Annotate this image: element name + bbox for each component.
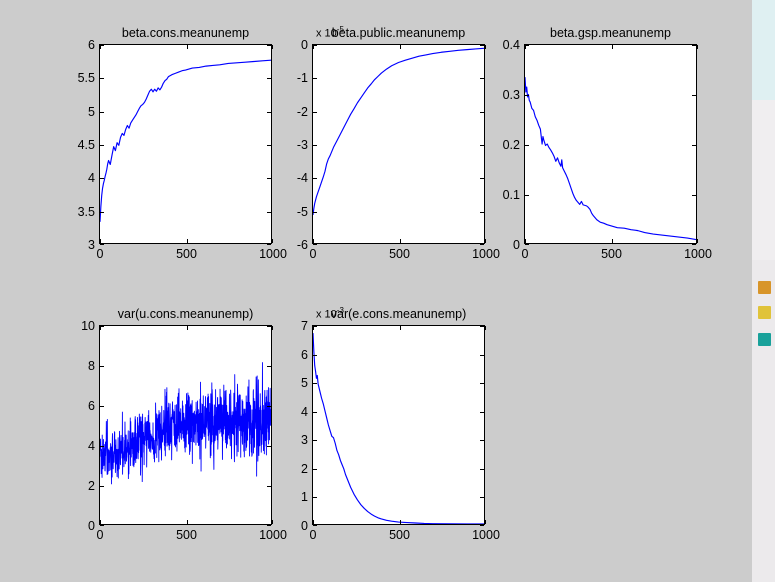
plot-line-beta-public-meanunemp xyxy=(313,45,484,243)
plot-line-beta-gsp-meanunemp xyxy=(525,45,696,243)
y-tick-mark xyxy=(525,145,529,146)
y-tick-mark xyxy=(480,326,484,327)
x-tick-mark xyxy=(400,520,401,524)
x-tick-label: 0 xyxy=(97,528,104,542)
subplot-var-e-cons-meanunemp[interactable]: x 10-3 var(e.cons.meanunemp) 01234567050… xyxy=(312,325,485,525)
x-tick-mark xyxy=(100,520,101,524)
y-tick-mark xyxy=(100,112,104,113)
x-tick-label: 0 xyxy=(97,247,104,261)
x-tick-mark xyxy=(100,326,101,330)
desktop-icon-teal[interactable] xyxy=(758,333,771,346)
y-tick-mark xyxy=(267,406,271,407)
subplot-title: var(e.cons.meanunemp) xyxy=(313,307,484,321)
y-tick-mark xyxy=(525,244,529,245)
y-tick-label: -6 xyxy=(297,238,308,252)
y-tick-mark xyxy=(267,78,271,79)
y-tick-label: -1 xyxy=(297,71,308,85)
x-tick-mark xyxy=(525,45,526,49)
subplot-var-u-cons-meanunemp[interactable]: var(u.cons.meanunemp) 024681005001000 xyxy=(99,325,272,525)
subplot-title: beta.public.meanunemp xyxy=(313,26,484,40)
y-tick-mark xyxy=(480,412,484,413)
y-tick-mark xyxy=(692,195,696,196)
y-tick-label: 3 xyxy=(88,238,95,252)
x-tick-label: 1000 xyxy=(472,247,500,261)
x-tick-mark xyxy=(697,45,698,49)
desktop-strip xyxy=(752,0,775,582)
x-tick-label: 500 xyxy=(389,247,410,261)
desktop-strip-band-top xyxy=(752,0,775,100)
y-tick-mark xyxy=(100,244,104,245)
y-tick-mark xyxy=(267,145,271,146)
y-tick-mark xyxy=(313,383,317,384)
y-tick-mark xyxy=(313,112,317,113)
y-tick-mark xyxy=(100,486,104,487)
x-tick-label: 1000 xyxy=(259,528,287,542)
y-tick-mark xyxy=(313,412,317,413)
desktop-icon-yellow[interactable] xyxy=(758,306,771,319)
y-tick-label: 3 xyxy=(301,433,308,447)
y-tick-mark xyxy=(313,469,317,470)
y-tick-mark xyxy=(313,78,317,79)
x-tick-mark xyxy=(697,239,698,243)
y-tick-mark xyxy=(480,440,484,441)
y-tick-label: 5 xyxy=(88,105,95,119)
y-tick-mark xyxy=(313,178,317,179)
y-tick-mark xyxy=(480,497,484,498)
y-tick-label: 6 xyxy=(88,399,95,413)
y-tick-mark xyxy=(313,244,317,245)
x-tick-label: 0 xyxy=(310,247,317,261)
x-tick-mark xyxy=(400,326,401,330)
y-tick-label: 4 xyxy=(88,439,95,453)
x-tick-mark xyxy=(272,520,273,524)
y-tick-mark xyxy=(480,212,484,213)
y-tick-mark xyxy=(100,212,104,213)
y-tick-mark xyxy=(480,525,484,526)
y-tick-mark xyxy=(100,446,104,447)
y-tick-label: -4 xyxy=(297,171,308,185)
x-tick-mark xyxy=(272,45,273,49)
y-tick-label: -2 xyxy=(297,105,308,119)
y-tick-label: 3.5 xyxy=(78,205,95,219)
x-tick-mark xyxy=(100,239,101,243)
y-tick-label: 7 xyxy=(301,319,308,333)
y-tick-mark xyxy=(480,244,484,245)
y-tick-label: 5 xyxy=(301,376,308,390)
x-tick-label: 1000 xyxy=(259,247,287,261)
y-tick-label: 0.4 xyxy=(503,38,520,52)
x-tick-mark xyxy=(400,239,401,243)
x-tick-label: 1000 xyxy=(472,528,500,542)
y-tick-mark xyxy=(480,383,484,384)
y-tick-mark xyxy=(692,45,696,46)
y-tick-label: 0.1 xyxy=(503,188,520,202)
x-tick-mark xyxy=(525,239,526,243)
x-tick-mark xyxy=(485,520,486,524)
y-tick-label: 6 xyxy=(301,348,308,362)
y-tick-mark xyxy=(313,212,317,213)
subplot-title: var(u.cons.meanunemp) xyxy=(100,307,271,321)
x-tick-label: 500 xyxy=(176,247,197,261)
subplot-beta-gsp-meanunemp[interactable]: beta.gsp.meanunemp 00.10.20.30.405001000 xyxy=(524,44,697,244)
y-tick-mark xyxy=(480,45,484,46)
y-tick-label: 0 xyxy=(301,38,308,52)
y-tick-label: -5 xyxy=(297,205,308,219)
x-tick-label: 500 xyxy=(601,247,622,261)
desktop-icon-orange[interactable] xyxy=(758,281,771,294)
y-tick-mark xyxy=(267,244,271,245)
y-tick-mark xyxy=(480,355,484,356)
y-tick-mark xyxy=(267,525,271,526)
matlab-figure-window[interactable]: beta.cons.meanunemp 33.544.555.560500100… xyxy=(0,0,758,582)
y-tick-label: 2 xyxy=(88,479,95,493)
x-tick-mark xyxy=(272,239,273,243)
y-tick-mark xyxy=(267,486,271,487)
plot-line-var-e-cons-meanunemp xyxy=(313,326,484,524)
y-tick-label: 0 xyxy=(513,238,520,252)
y-tick-mark xyxy=(100,525,104,526)
x-tick-mark xyxy=(313,520,314,524)
y-tick-label: 10 xyxy=(81,319,95,333)
y-tick-mark xyxy=(267,446,271,447)
y-tick-mark xyxy=(313,145,317,146)
x-tick-mark xyxy=(485,239,486,243)
x-tick-label: 0 xyxy=(310,528,317,542)
x-tick-label: 500 xyxy=(389,528,410,542)
y-tick-label: 0.2 xyxy=(503,138,520,152)
y-tick-mark xyxy=(525,95,529,96)
x-tick-mark xyxy=(485,326,486,330)
plot-line-var-u-cons-meanunemp xyxy=(100,326,271,524)
y-tick-mark xyxy=(100,178,104,179)
x-tick-mark xyxy=(612,45,613,49)
x-tick-mark xyxy=(187,239,188,243)
y-tick-mark xyxy=(692,145,696,146)
x-tick-mark xyxy=(400,45,401,49)
x-tick-mark xyxy=(313,45,314,49)
y-tick-label: 5.5 xyxy=(78,71,95,85)
x-tick-mark xyxy=(313,326,314,330)
y-tick-mark xyxy=(267,178,271,179)
x-tick-label: 1000 xyxy=(684,247,712,261)
y-tick-label: 4.5 xyxy=(78,138,95,152)
y-tick-mark xyxy=(480,78,484,79)
y-tick-mark xyxy=(100,366,104,367)
subplot-beta-cons-meanunemp[interactable]: beta.cons.meanunemp 33.544.555.560500100… xyxy=(99,44,272,244)
y-tick-label: 4 xyxy=(301,405,308,419)
y-tick-mark xyxy=(313,440,317,441)
y-tick-mark xyxy=(100,78,104,79)
y-tick-label: 4 xyxy=(88,171,95,185)
y-tick-label: 6 xyxy=(88,38,95,52)
desktop-strip-band-mid xyxy=(752,100,775,260)
y-tick-mark xyxy=(313,497,317,498)
y-tick-label: 8 xyxy=(88,359,95,373)
y-tick-label: 1 xyxy=(301,490,308,504)
y-tick-mark xyxy=(267,326,271,327)
x-tick-mark xyxy=(187,520,188,524)
x-tick-mark xyxy=(612,239,613,243)
x-tick-mark xyxy=(187,326,188,330)
x-tick-mark xyxy=(313,239,314,243)
subplot-beta-public-meanunemp[interactable]: x 10-5 beta.public.meanunemp -6-5-4-3-2-… xyxy=(312,44,485,244)
y-tick-label: -3 xyxy=(297,138,308,152)
y-tick-mark xyxy=(692,244,696,245)
screen: beta.cons.meanunemp 33.544.555.560500100… xyxy=(0,0,775,582)
y-tick-mark xyxy=(480,112,484,113)
y-tick-mark xyxy=(267,45,271,46)
y-tick-mark xyxy=(267,212,271,213)
plot-line-beta-cons-meanunemp xyxy=(100,45,271,243)
y-tick-mark xyxy=(480,469,484,470)
x-tick-label: 500 xyxy=(176,528,197,542)
x-tick-mark xyxy=(100,45,101,49)
subplot-title: beta.gsp.meanunemp xyxy=(525,26,696,40)
x-tick-label: 0 xyxy=(522,247,529,261)
x-tick-mark xyxy=(187,45,188,49)
y-tick-mark xyxy=(480,178,484,179)
y-tick-mark xyxy=(313,355,317,356)
y-tick-label: 2 xyxy=(301,462,308,476)
y-tick-label: 0 xyxy=(88,519,95,533)
x-tick-mark xyxy=(272,326,273,330)
y-tick-mark xyxy=(100,406,104,407)
y-tick-mark xyxy=(480,145,484,146)
y-tick-mark xyxy=(313,525,317,526)
y-tick-mark xyxy=(100,145,104,146)
x-tick-mark xyxy=(485,45,486,49)
y-tick-mark xyxy=(692,95,696,96)
y-tick-mark xyxy=(525,195,529,196)
y-tick-mark xyxy=(267,112,271,113)
y-tick-mark xyxy=(267,366,271,367)
y-tick-label: 0 xyxy=(301,519,308,533)
subplot-title: beta.cons.meanunemp xyxy=(100,26,271,40)
y-tick-label: 0.3 xyxy=(503,88,520,102)
